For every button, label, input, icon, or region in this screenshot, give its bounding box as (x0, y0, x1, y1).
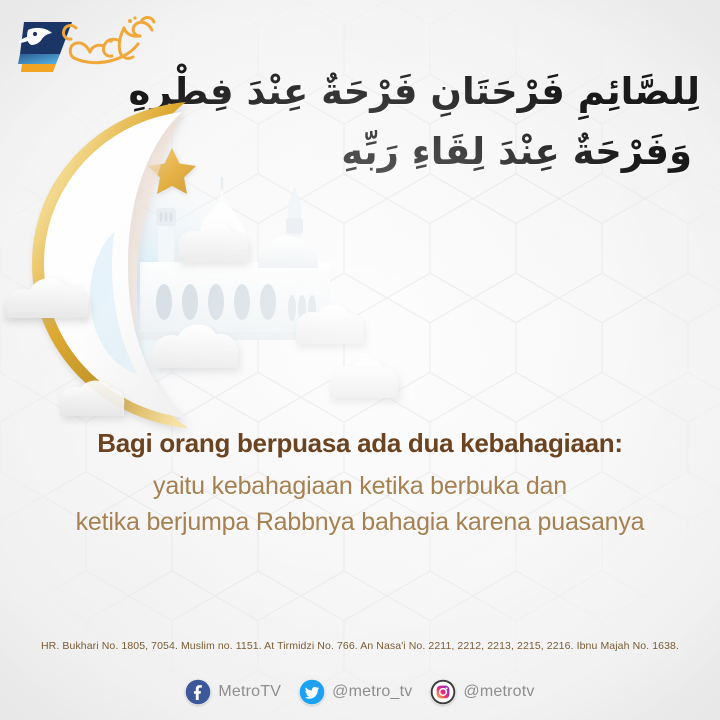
facebook-icon[interactable] (185, 679, 211, 705)
social-item-twitter[interactable]: @metro_tv (299, 679, 412, 705)
ramadan-calligraphy (63, 18, 154, 63)
twitter-icon[interactable] (299, 679, 325, 705)
social-item-instagram[interactable]: @metrotv (430, 679, 534, 705)
social-item-facebook[interactable]: MetroTV (185, 679, 281, 705)
translation-line-3: ketika berjumpa Rabbnya bahagia karena p… (0, 505, 720, 541)
ramadan-quote-poster: لِلصَّائِمِ فَرْحَتَانِ فَرْحَةٌ عِنْدَ … (0, 0, 720, 720)
twitter-handle: @metro_tv (332, 683, 412, 701)
ramadan-illustration (0, 96, 420, 416)
social-media-bar: MetroTV @metro_tv (0, 670, 720, 714)
translation-line-2: yaitu kebahagiaan ketika berbuka dan (0, 469, 720, 505)
instagram-handle: @metrotv (463, 683, 534, 701)
translation-heading: Bagi orang berpuasa ada dua kebahagiaan: (0, 428, 720, 459)
cloud-lower-right (330, 359, 398, 398)
translation-block: Bagi orang berpuasa ada dua kebahagiaan:… (0, 428, 720, 540)
instagram-icon[interactable] (430, 679, 456, 705)
source-citation: HR. Bukhari No. 1805, 7054. Muslim no. 1… (0, 640, 720, 652)
facebook-handle: MetroTV (218, 683, 281, 701)
